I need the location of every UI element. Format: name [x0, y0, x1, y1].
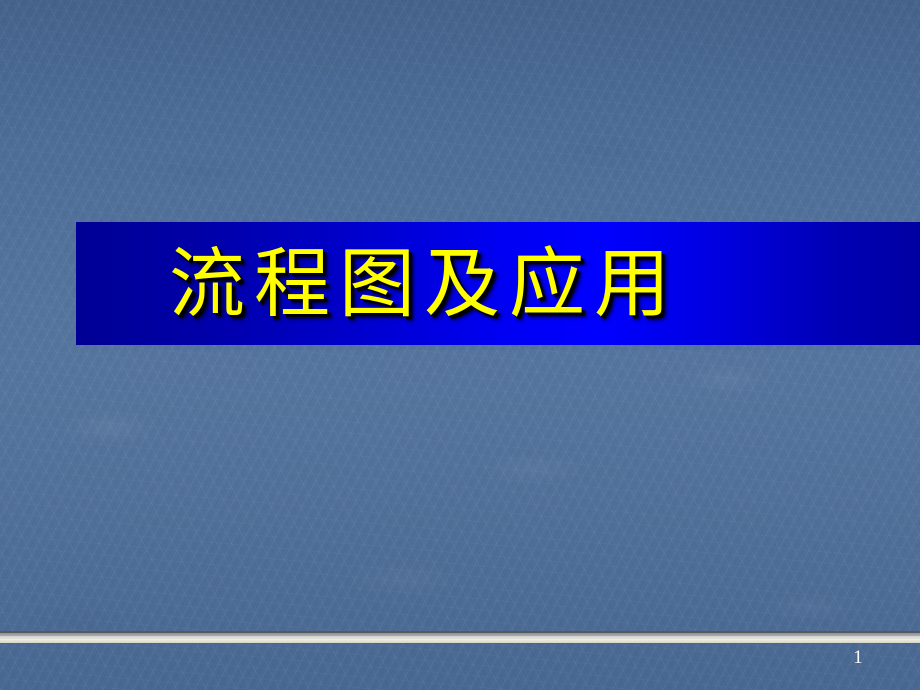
page-number: 1 — [840, 646, 876, 670]
title-banner: 流程图及应用 — [76, 222, 920, 345]
slide-title: 流程图及应用 — [76, 222, 920, 345]
background-shading-layer — [0, 0, 920, 690]
rule-line-bottom-edge — [0, 643, 920, 644]
footer-divider-rule — [0, 631, 920, 644]
presentation-slide: 流程图及应用 1 — [0, 0, 920, 690]
